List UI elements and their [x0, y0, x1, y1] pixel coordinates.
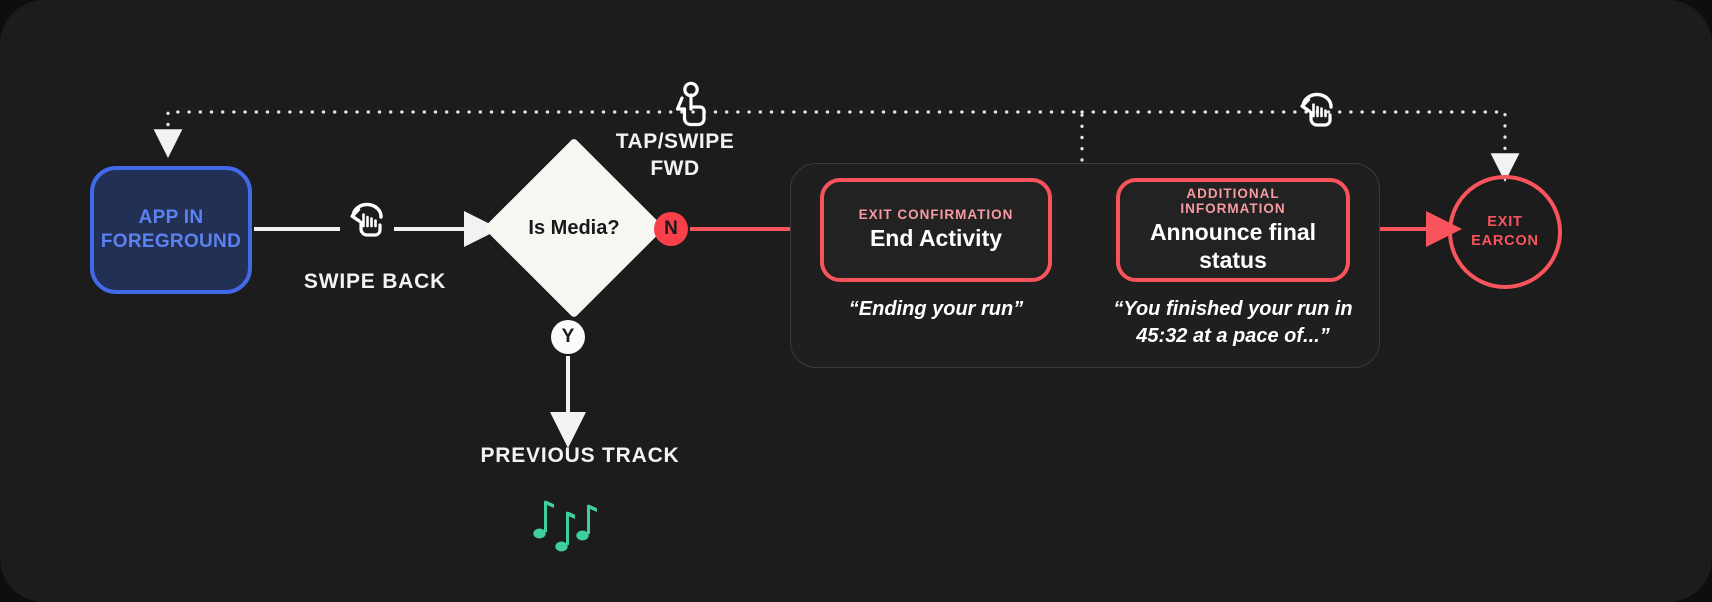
- badge-no: N: [654, 212, 688, 246]
- card-title: Announce final status: [1134, 219, 1332, 273]
- card-eyebrow: ADDITIONAL INFORMATION: [1134, 186, 1332, 216]
- exit-earcon-label: EXIT EARCON: [1471, 213, 1539, 251]
- card-quote-additional-information: “You finished your run in 45:32 at a pac…: [1110, 296, 1356, 350]
- card-eyebrow: EXIT CONFIRMATION: [859, 207, 1014, 222]
- badge-yes: Y: [551, 320, 585, 354]
- swipe-back-gesture-icon: [1295, 90, 1339, 134]
- music-notes-icon: [530, 492, 602, 560]
- app-in-foreground-label: APP IN FOREGROUND: [101, 206, 241, 254]
- diagram-stage: APP IN FOREGROUND Is Media? N Y EXIT CON…: [0, 0, 1712, 602]
- card-title: End Activity: [870, 225, 1002, 252]
- caption-previous-track: PREVIOUS TRACK: [430, 444, 730, 468]
- diagram-canvas: APP IN FOREGROUND Is Media? N Y EXIT CON…: [0, 0, 1712, 602]
- card-quote-exit-confirmation: “Ending your run”: [820, 296, 1052, 323]
- caption-tap-swipe-fwd: TAP/SWIPE FWD: [565, 128, 785, 183]
- card-exit-confirmation[interactable]: EXIT CONFIRMATION End Activity: [820, 178, 1052, 282]
- node-exit-earcon[interactable]: EXIT EARCON: [1448, 175, 1562, 289]
- tap-gesture-icon: [668, 80, 712, 130]
- dotted-to-earcon: [1082, 112, 1505, 166]
- card-additional-information[interactable]: ADDITIONAL INFORMATION Announce final st…: [1116, 178, 1350, 282]
- swipe-back-gesture-icon: [345, 200, 389, 244]
- caption-swipe-back: SWIPE BACK: [225, 270, 525, 294]
